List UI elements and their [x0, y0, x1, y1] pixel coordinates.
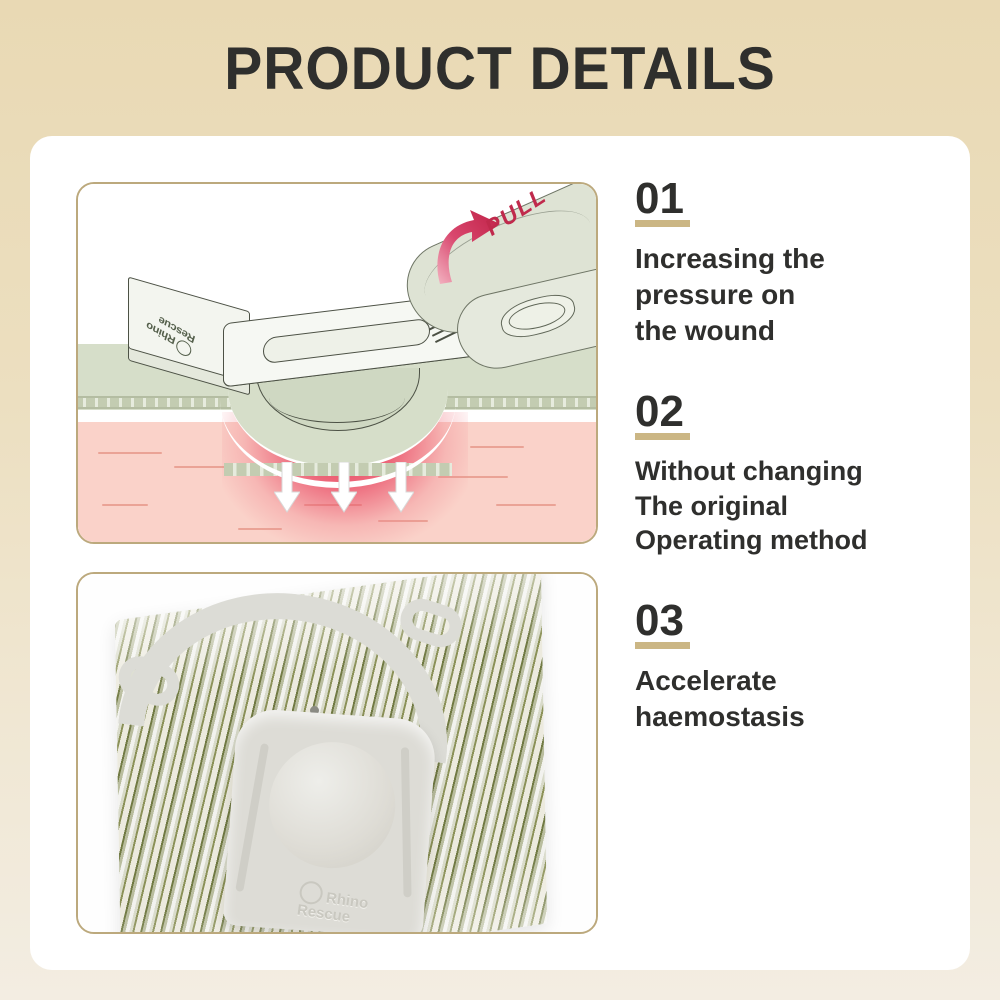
step-item-02: 02 Without changing The original Operati… — [635, 391, 955, 558]
skin-texture-line — [470, 446, 524, 448]
pressure-arrows-group — [274, 462, 414, 522]
step-number: 03 — [635, 600, 690, 649]
step-item-01: 01 Increasing the pressure on the wound — [635, 178, 955, 349]
device-brand-logo: RhinoRescue — [144, 308, 197, 359]
rhino-logo-mark — [298, 880, 324, 906]
pressure-arrow-down-icon — [274, 462, 300, 514]
clip-rib-left — [235, 743, 269, 892]
step-description: Accelerate haemostasis — [635, 663, 955, 735]
step-description: Without changing The original Operating … — [635, 454, 955, 558]
product-brand-emboss: RhinoRescue — [296, 880, 370, 927]
skin-texture-line — [102, 504, 148, 506]
step-number: 02 — [635, 391, 690, 440]
step-number: 01 — [635, 178, 690, 227]
step-description: Increasing the pressure on the wound — [635, 241, 955, 348]
clip-rib-right — [401, 747, 412, 897]
steps-list: 01 Increasing the pressure on the wound … — [635, 178, 955, 776]
pressure-arrow-down-icon — [331, 462, 357, 514]
rhino-logo-mark — [174, 337, 193, 359]
skin-texture-line — [174, 466, 226, 468]
content-card: RhinoRescue — [30, 136, 970, 970]
step-item-03: 03 Accelerate haemostasis — [635, 600, 955, 735]
product-details-page: PRODUCT DETAILS — [0, 0, 1000, 1000]
illustration-panel-pull-pressure: RhinoRescue — [76, 182, 598, 544]
wound-pressure-illustration: RhinoRescue — [78, 184, 596, 542]
skin-texture-line — [98, 452, 162, 454]
product-photo: RhinoRescue — [78, 574, 596, 932]
skin-texture-line — [496, 504, 556, 506]
page-title: PRODUCT DETAILS — [25, 34, 975, 103]
clip-body: RhinoRescue — [223, 707, 438, 934]
pressure-dome — [265, 738, 399, 872]
product-photo-panel: RhinoRescue — [76, 572, 598, 934]
pressure-arrow-down-icon — [388, 462, 414, 514]
